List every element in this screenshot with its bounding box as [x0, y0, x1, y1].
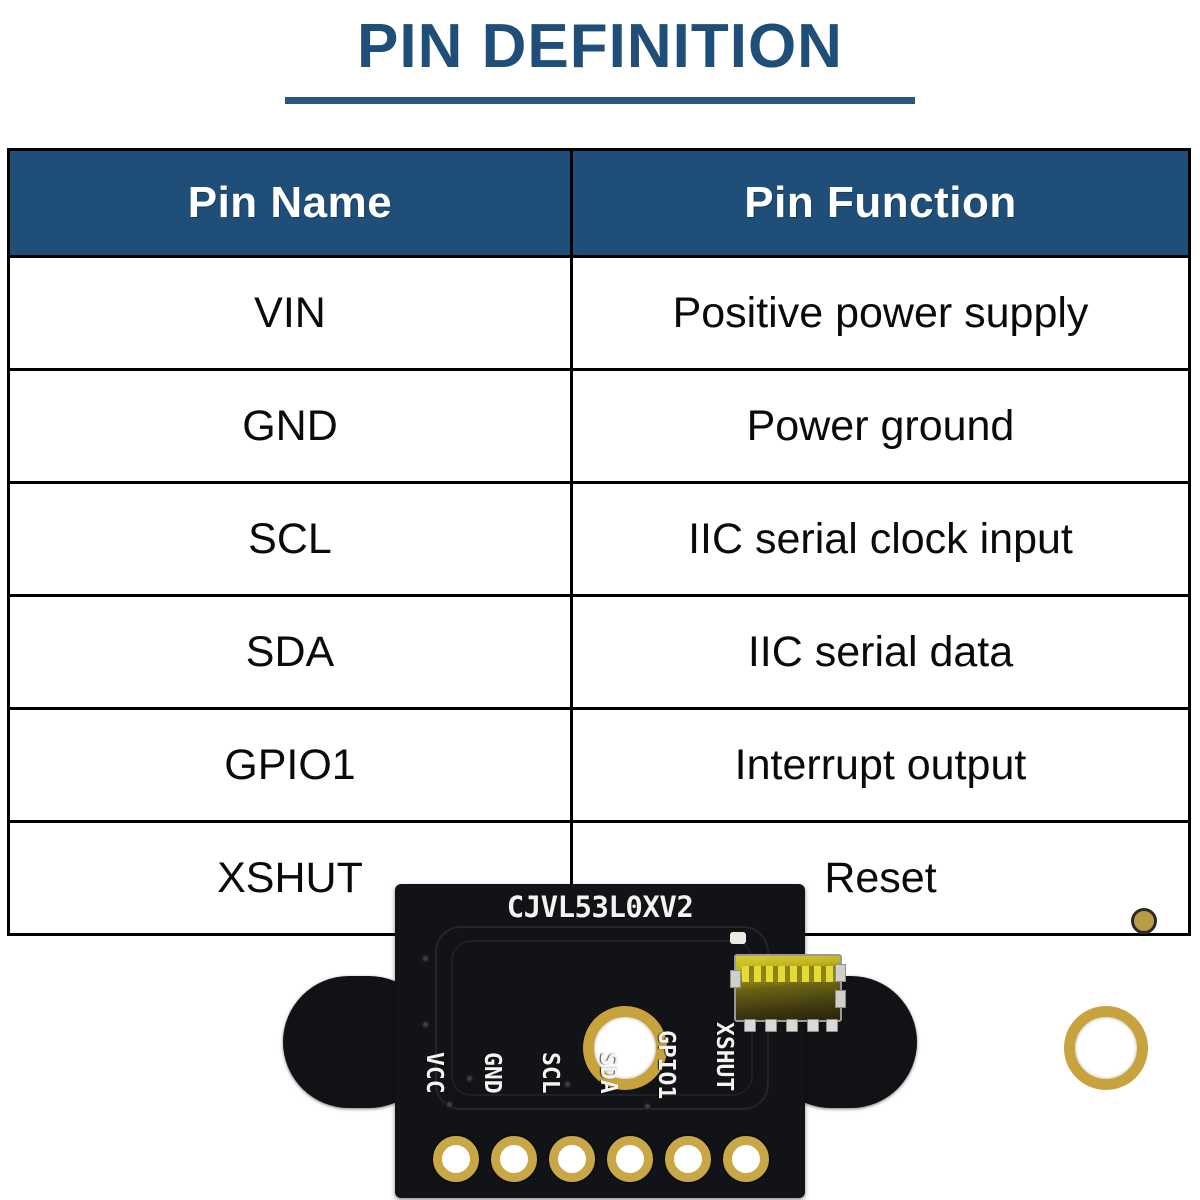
pcb-alignment-dot	[730, 932, 746, 944]
cell-pin-function: Interrupt output	[572, 709, 1190, 822]
sensor-chip-aperture-strip	[742, 966, 846, 982]
table-row: SDA IIC serial data	[9, 596, 1190, 709]
pin-definition-table: Pin Name Pin Function VIN Positive power…	[7, 148, 1191, 936]
pcb-via	[643, 1102, 652, 1111]
cell-pin-name: GPIO1	[9, 709, 572, 822]
pcb-header-pad-scl	[549, 1136, 595, 1182]
sensor-chip-pin	[826, 1019, 838, 1032]
sensor-chip-side-pad	[730, 970, 741, 988]
table-row: GPIO1 Interrupt output	[9, 709, 1190, 822]
cell-pin-function: IIC serial clock input	[572, 483, 1190, 596]
pcb-silkscreen-part-number: CJVL53L0XV2	[395, 890, 805, 924]
pcb-pin-label-gpio1: GPIO1	[653, 1030, 679, 1110]
sensor-module-photo: CJVL53L0XV2 VCC GND SCL SDA GPIO1 XSHUT	[283, 884, 917, 1198]
pcb-header-pad-vcc	[433, 1136, 479, 1182]
pcb-header-pad-gpio1	[665, 1136, 711, 1182]
table-row: GND Power ground	[9, 370, 1190, 483]
pcb-via	[465, 1074, 474, 1083]
cell-pin-name: VIN	[9, 257, 572, 370]
sensor-chip-pin	[807, 1019, 819, 1032]
sensor-chip-pin	[744, 1019, 756, 1032]
cell-pin-name: SDA	[9, 596, 572, 709]
pcb-pin-label-xshut: XSHUT	[711, 1022, 737, 1102]
cell-pin-function: Power ground	[572, 370, 1190, 483]
title-underline-rule	[285, 97, 915, 104]
pcb-pin-label-gnd: GND	[479, 1052, 505, 1132]
pcb-pin-label-sda: SDA	[595, 1052, 621, 1132]
pcb-header-pad-sda	[607, 1136, 653, 1182]
page-title: PIN DEFINITION	[0, 14, 1200, 79]
cell-pin-function: Positive power supply	[572, 257, 1190, 370]
table-header-row: Pin Name Pin Function	[9, 150, 1190, 257]
table-header: Pin Name Pin Function	[9, 150, 1190, 257]
vl53l0x-sensor-chip	[730, 946, 846, 1026]
pcb-header-pad-gnd	[491, 1136, 537, 1182]
pcb-header-pad-xshut	[723, 1136, 769, 1182]
pcb-pin-label-scl: SCL	[537, 1052, 563, 1132]
sensor-chip-pin	[786, 1019, 798, 1032]
column-header-pin-name: Pin Name	[9, 150, 572, 257]
column-header-pin-function: Pin Function	[572, 150, 1190, 257]
sensor-chip-side-pad	[835, 964, 846, 982]
pcb-via	[421, 954, 430, 963]
cell-pin-name: SCL	[9, 483, 572, 596]
pcb-via	[563, 1080, 572, 1089]
pcb-via	[421, 1020, 430, 1029]
page-header: PIN DEFINITION	[0, 14, 1200, 79]
sensor-chip-body	[734, 954, 842, 1022]
cell-pin-function: IIC serial data	[572, 596, 1190, 709]
pcb-pin-label-vcc: VCC	[421, 1052, 447, 1132]
table-body: VIN Positive power supply GND Power grou…	[9, 257, 1190, 935]
sensor-chip-side-pad	[835, 990, 846, 1008]
pcb-corner-via	[1131, 908, 1157, 934]
table-row: SCL IIC serial clock input	[9, 483, 1190, 596]
pcb-mounting-hole-right	[1064, 1006, 1148, 1090]
cell-pin-name: GND	[9, 370, 572, 483]
sensor-chip-pin	[765, 1019, 777, 1032]
table-row: VIN Positive power supply	[9, 257, 1190, 370]
